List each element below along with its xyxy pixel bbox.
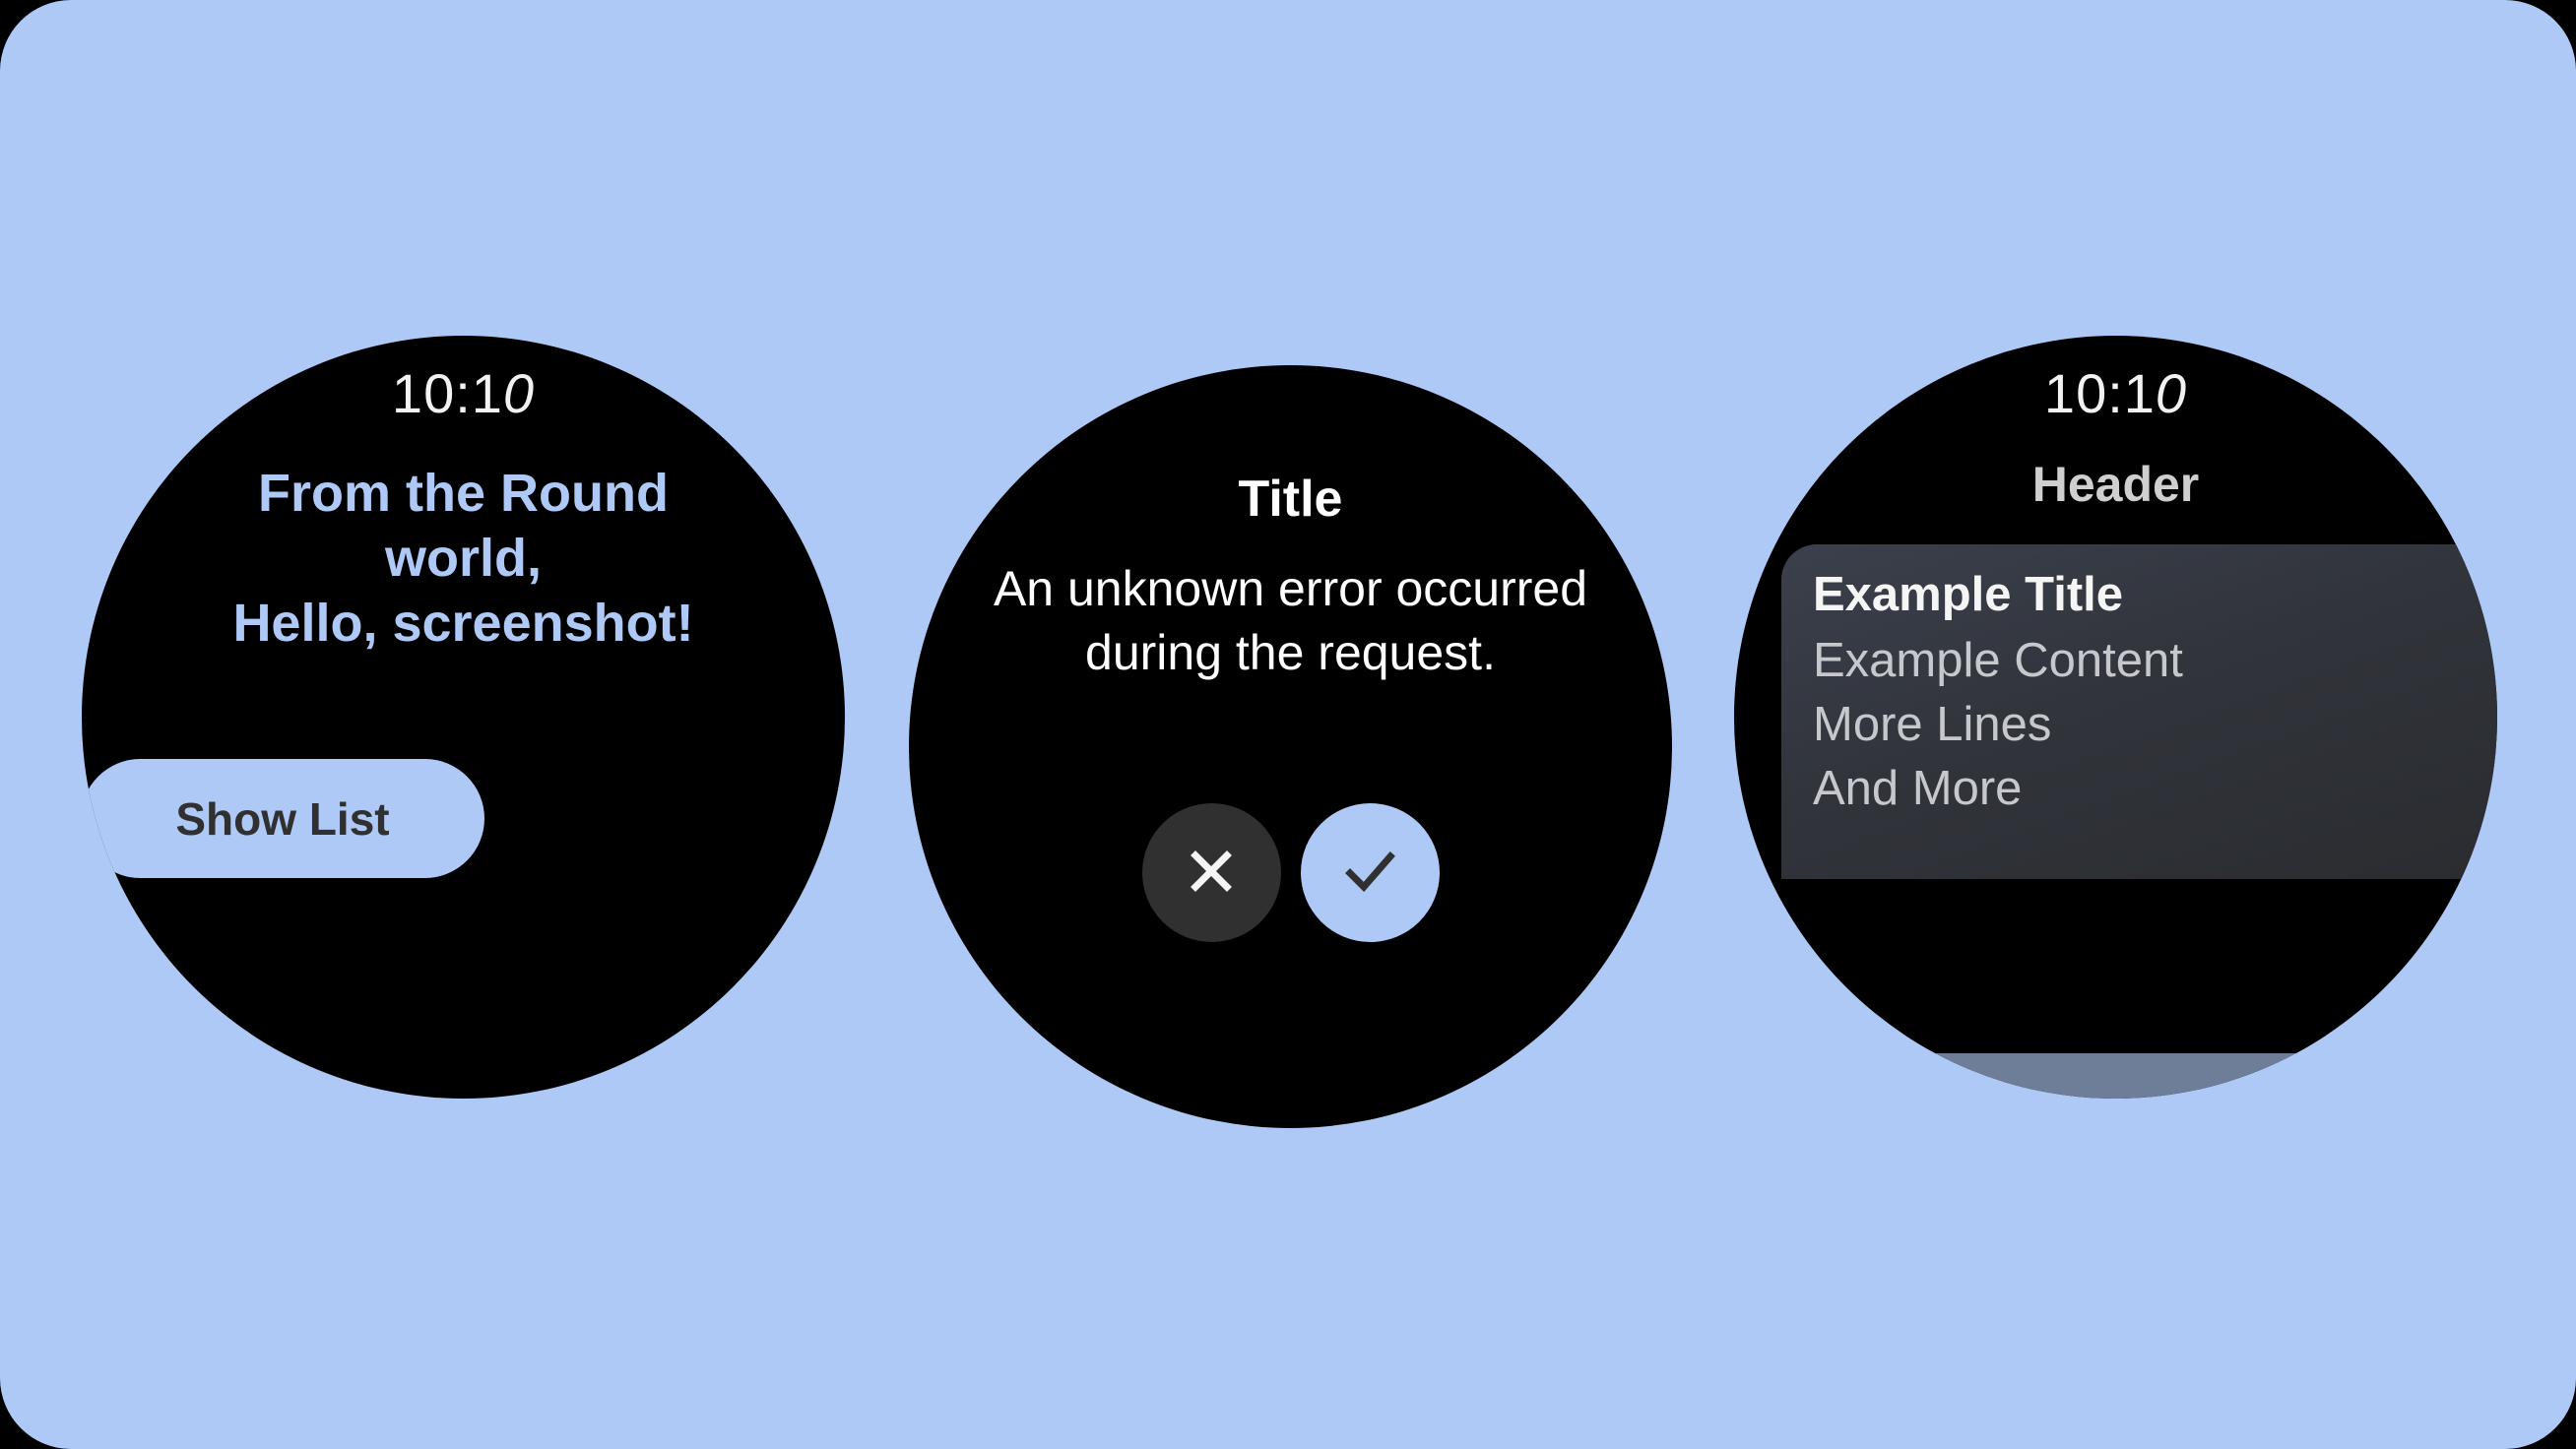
- dialog-message-line-2: during the request.: [933, 621, 1648, 685]
- check-icon: [1335, 837, 1404, 909]
- close-icon: [1180, 840, 1243, 906]
- status-bar-time-suffix: 0: [503, 362, 535, 424]
- card-line: And More: [1781, 765, 2497, 813]
- greeting-text: From the Round world, Hello, screenshot!: [133, 462, 794, 657]
- dialog-message: An unknown error occurred during the req…: [933, 557, 1648, 685]
- card-line: Example Content: [1781, 637, 2497, 685]
- status-bar-time-prefix: 10:1: [2044, 362, 2156, 424]
- watch-preview-alert-dialog: Title An unknown error occurred during t…: [909, 365, 1672, 1128]
- card-divider: [1734, 1036, 2497, 1053]
- bottom-surface-band: [1734, 1053, 2497, 1099]
- screenshot-root: 10:10 From the Round world, Hello, scree…: [0, 0, 2576, 1449]
- dismiss-button[interactable]: [1142, 803, 1281, 942]
- example-card[interactable]: Example Title Example Content More Lines…: [1781, 544, 2497, 879]
- confirm-button[interactable]: [1301, 803, 1440, 942]
- status-bar-time-prefix: 10:1: [392, 362, 503, 424]
- card-line: More Lines: [1781, 701, 2497, 749]
- dialog-title: Title: [909, 473, 1672, 525]
- greeting-line-3: Hello, screenshot!: [133, 592, 794, 657]
- dialog-message-line-1: An unknown error occurred: [933, 557, 1648, 621]
- greeting-line-2: world,: [133, 527, 794, 592]
- status-bar-time-suffix: 0: [2156, 362, 2187, 424]
- screen-header: Header: [1734, 460, 2497, 509]
- watch-preview-hello-world: 10:10 From the Round world, Hello, scree…: [82, 336, 845, 1099]
- dialog-button-row: [909, 803, 1672, 942]
- card-title: Example Title: [1781, 570, 2497, 621]
- status-bar-time: 10:10: [1734, 366, 2497, 421]
- show-list-button[interactable]: Show List: [82, 759, 484, 878]
- greeting-line-1: From the Round: [133, 462, 794, 527]
- watch-preview-card-list: 10:10 Header Example Title Example Conte…: [1734, 336, 2497, 1099]
- status-bar-time: 10:10: [82, 366, 845, 421]
